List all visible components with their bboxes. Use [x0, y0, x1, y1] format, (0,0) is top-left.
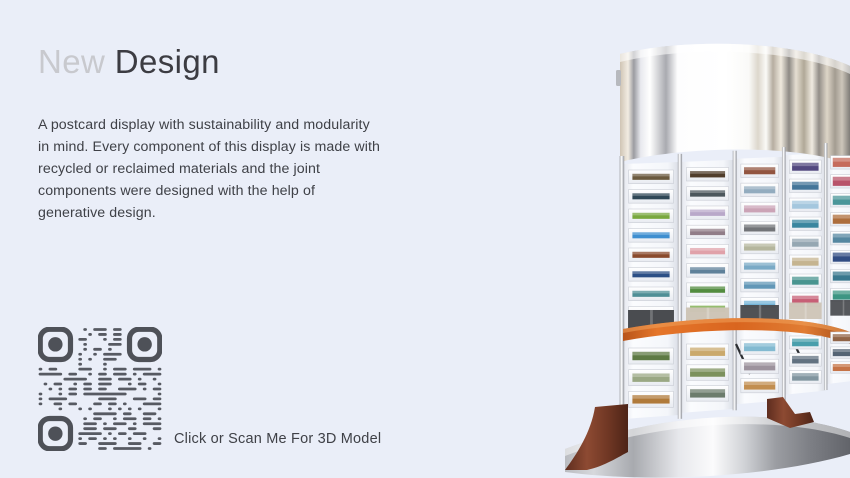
qr-caption: Click or Scan Me For 3D Model — [174, 431, 381, 447]
page-title-dark-word: Design — [115, 43, 220, 80]
product-display-rack[interactable] — [505, 14, 850, 478]
description-block: A postcard display with sustainability a… — [38, 114, 383, 224]
slide-canvas: New Design A postcard display with susta… — [0, 0, 850, 478]
qr-block[interactable] — [38, 327, 162, 451]
qr-code[interactable] — [38, 327, 162, 451]
page-title: New Design — [38, 44, 438, 80]
rack-top-band — [616, 44, 850, 164]
description-text: A postcard display with sustainability a… — [38, 114, 383, 224]
text-column: New Design A postcard display with susta… — [38, 44, 438, 224]
page-title-light-word: New — [38, 43, 105, 80]
